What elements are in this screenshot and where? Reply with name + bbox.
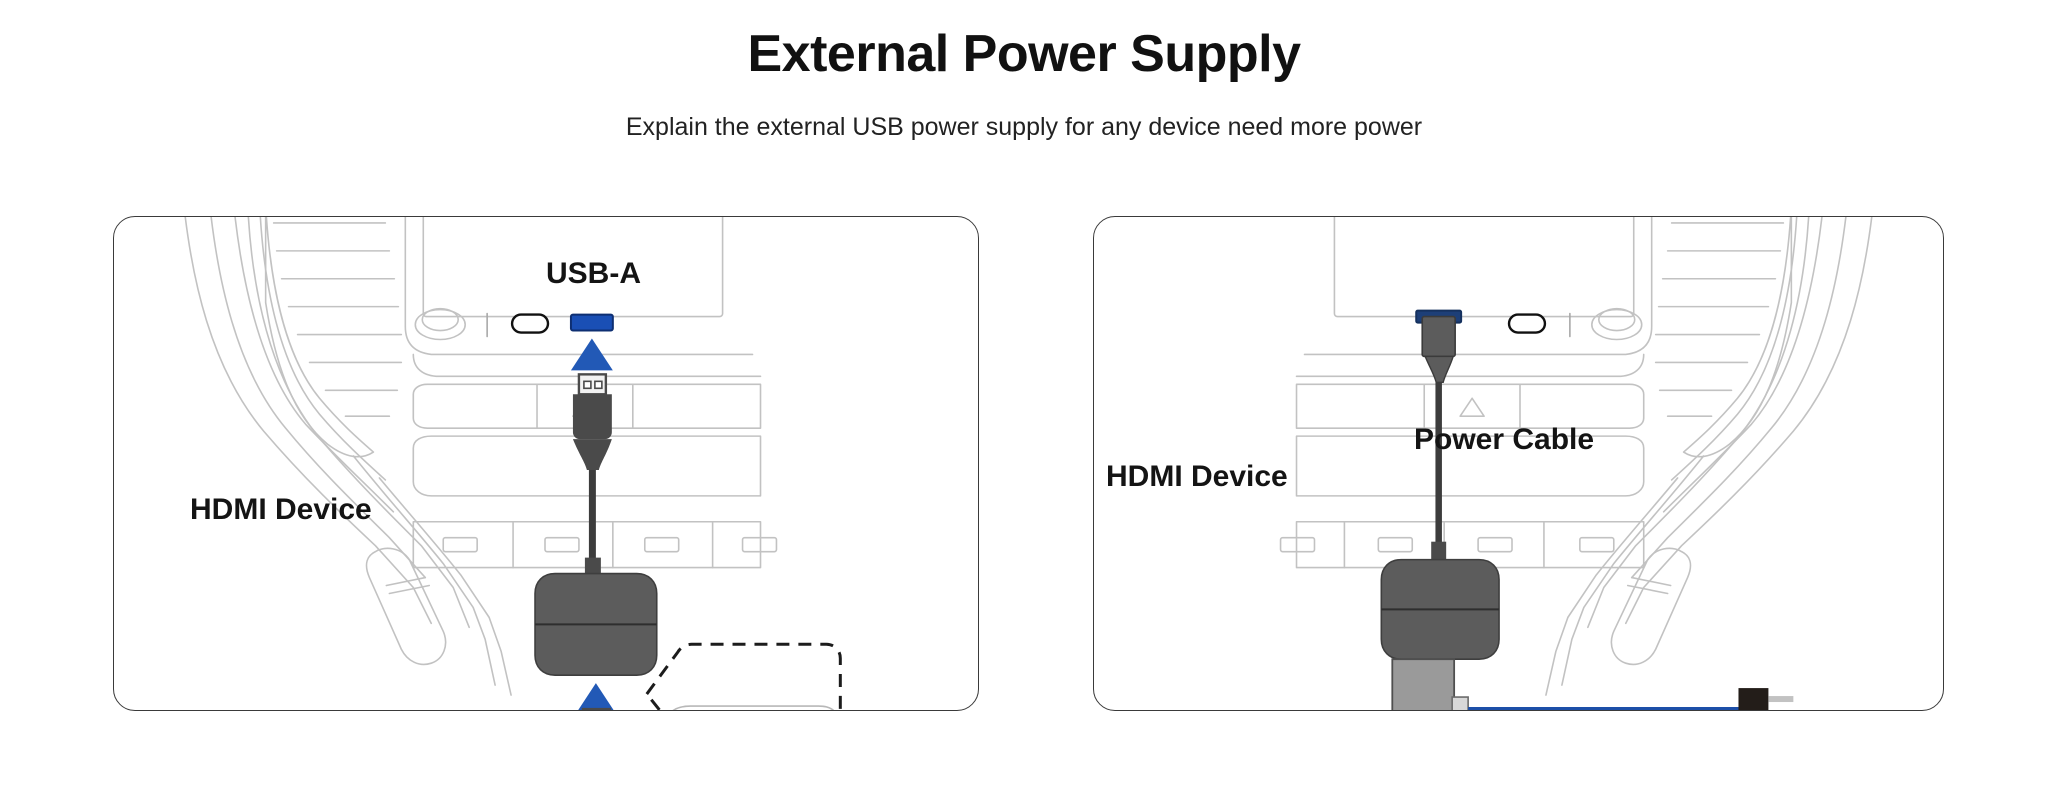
usb-a-male-connector	[573, 374, 612, 470]
blue-arrow-up-to-dongle	[577, 683, 615, 710]
usb-cable-strain-relief	[1431, 542, 1446, 561]
hdmi-device-stick	[566, 709, 627, 710]
dashed-callout-box	[647, 644, 841, 710]
page-root: External Power Supply Explain the extern…	[0, 0, 2048, 800]
power-plug-two-prong	[1738, 688, 1793, 710]
hdmi-device-label: HDMI Device	[1106, 462, 1288, 492]
car-dashboard-line-art	[184, 217, 777, 695]
hdmi-dongle-box	[1381, 560, 1499, 660]
power-cable-label: Power Cable	[1414, 425, 1594, 455]
page-title: External Power Supply	[0, 28, 2048, 80]
usb-a-diagram-stage	[114, 217, 978, 710]
callout-device	[669, 706, 837, 710]
usb-a-connection-panel: USB-A HDMI Device	[113, 216, 979, 711]
hdmi-device-stick	[1392, 659, 1454, 710]
rounded-button	[1509, 315, 1545, 333]
usb-a-male-connector-inserted	[1422, 317, 1455, 383]
power-connector-socket	[1452, 697, 1468, 710]
usb-a-label: USB-A	[546, 259, 641, 289]
hdmi-dongle-box	[535, 574, 657, 676]
power-cable-connection-panel: Power Cable HDMI Device	[1093, 216, 1944, 711]
page-subtitle: Explain the external USB power supply fo…	[0, 115, 2048, 140]
rounded-button	[512, 315, 548, 333]
usb-a-diagram-svg	[114, 217, 978, 710]
hdmi-device-label: HDMI Device	[190, 495, 372, 525]
usb-a-port-blue	[571, 315, 613, 331]
car-dashboard-line-art-mirrored	[1281, 217, 1874, 695]
